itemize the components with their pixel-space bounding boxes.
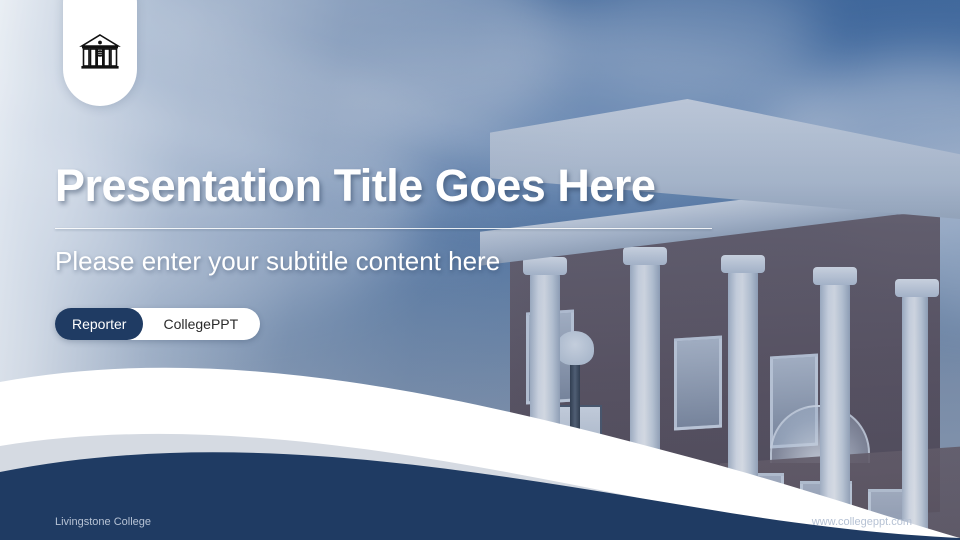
subtitle-text: Please enter your subtitle content here (55, 246, 500, 277)
footer-institution: Livingstone College (55, 516, 151, 528)
page-title: Presentation Title Goes Here (55, 160, 655, 212)
presentation-slide: Presentation Title Goes Here Please ente… (0, 0, 960, 540)
presenter-pill[interactable]: Reporter CollegePPT (55, 308, 260, 340)
title-divider (55, 228, 712, 229)
presenter-name[interactable]: CollegePPT (143, 316, 256, 332)
reporter-badge[interactable]: Reporter (55, 308, 143, 340)
classical-building-icon (79, 32, 121, 72)
bottom-wave-decoration (0, 350, 960, 540)
footer-website: www.collegeppt.com (812, 516, 912, 528)
logo-container (63, 0, 137, 106)
